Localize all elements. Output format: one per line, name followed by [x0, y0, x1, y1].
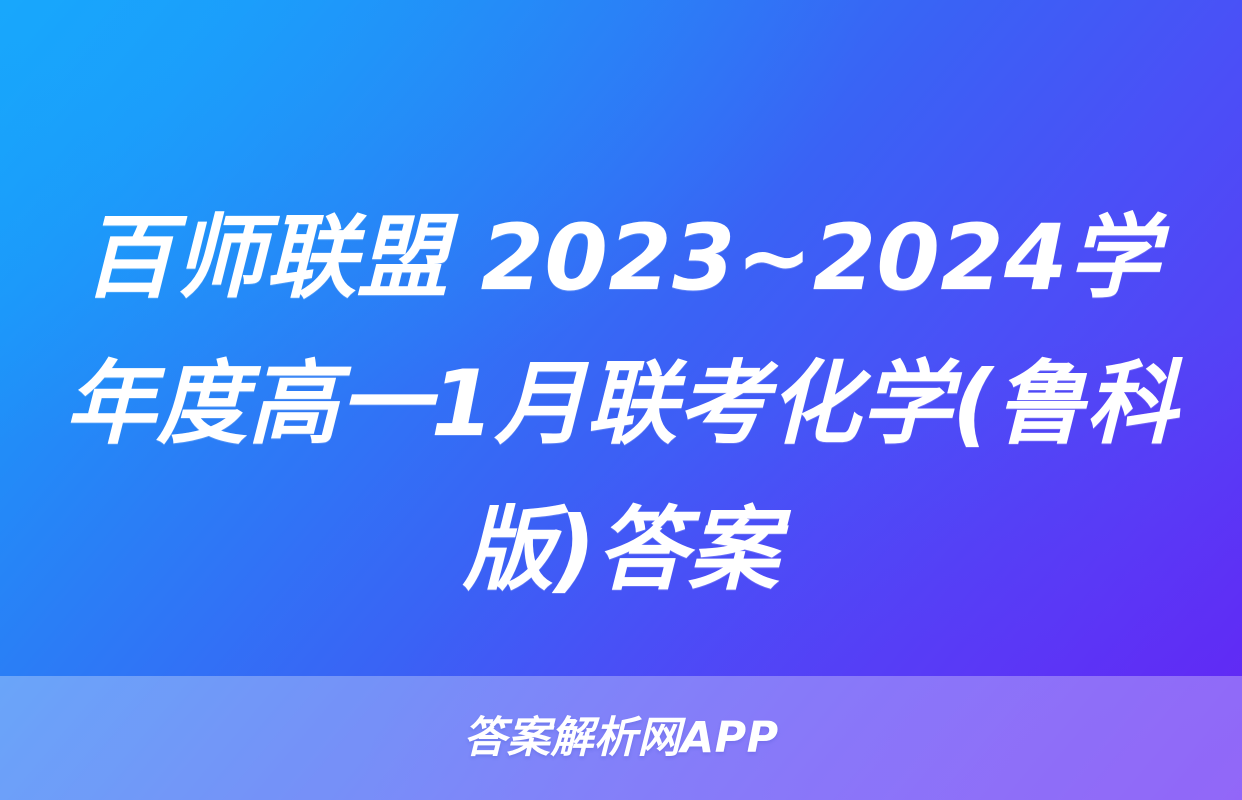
watermark-band: 答案解析网APP [0, 676, 1242, 800]
page-title: 百师联盟 2023~2024学年度高一1月联考化学(鲁科版)答案 [60, 186, 1182, 624]
answer-poster-card: 百师联盟 2023~2024学年度高一1月联考化学(鲁科版)答案 答案解析网AP… [0, 0, 1242, 800]
app-watermark-label: 答案解析网APP [463, 717, 778, 760]
poster-title-block: 百师联盟 2023~2024学年度高一1月联考化学(鲁科版)答案 [0, 186, 1242, 624]
